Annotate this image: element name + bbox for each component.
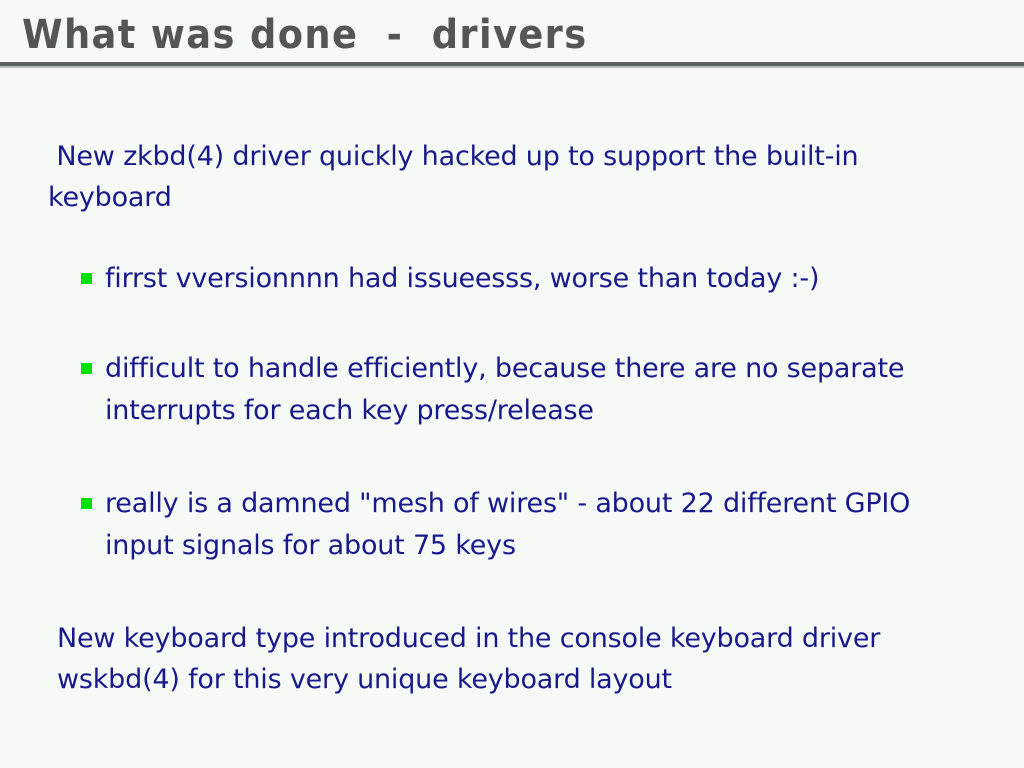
slide-body: New zkbd(4) driver quickly hacked up to … <box>0 62 1024 768</box>
square-bullet-icon <box>81 273 92 284</box>
intro-paragraph: New zkbd(4) driver quickly hacked up to … <box>48 136 928 218</box>
list-item: firrst vversionnnn had issueesss, worse … <box>81 258 985 300</box>
page-title: What was done - drivers <box>22 8 587 62</box>
list-item-label: difficult to handle efficiently, because… <box>105 348 985 432</box>
list-item: really is a damned "mesh of wires" - abo… <box>81 483 985 567</box>
list-item: difficult to handle efficiently, because… <box>81 348 985 432</box>
list-item-label: firrst vversionnnn had issueesss, worse … <box>105 258 985 300</box>
square-bullet-icon <box>81 498 92 509</box>
closing-paragraph: New keyboard type introduced in the cons… <box>57 618 957 700</box>
square-bullet-icon <box>81 363 92 374</box>
list-item-label: really is a damned "mesh of wires" - abo… <box>105 483 985 567</box>
